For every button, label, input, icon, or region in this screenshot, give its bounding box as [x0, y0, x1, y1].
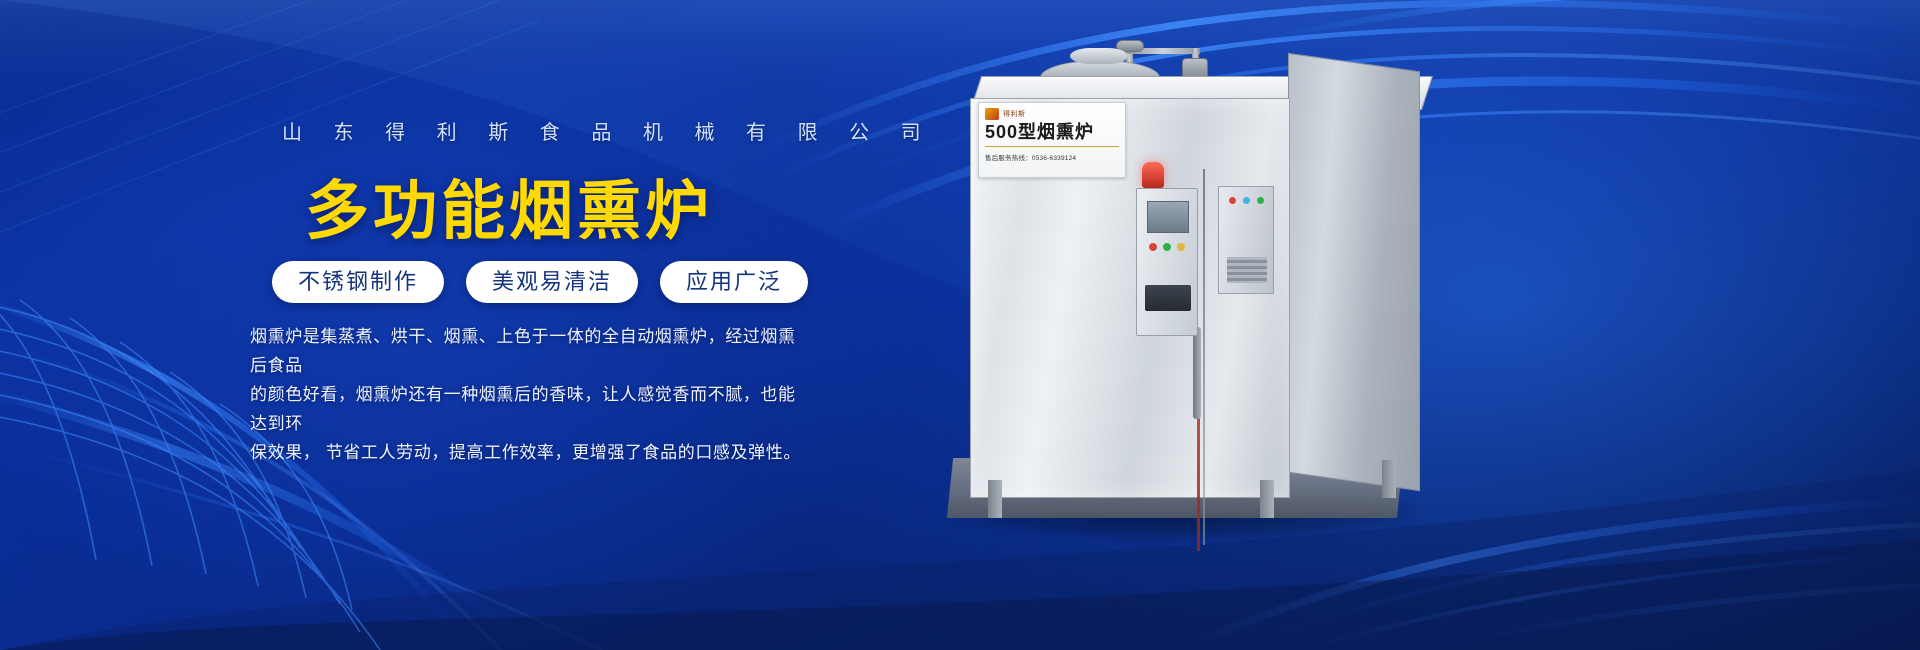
indicator-lamp-blue: [1243, 197, 1250, 204]
smokehouse-machine-image: 得利斯 500型烟熏炉 售后服务热线：0536-6339124: [930, 40, 1490, 560]
brand-logo: 得利斯: [985, 108, 1119, 120]
warning-beacon-light: [1142, 162, 1164, 188]
description-line: 烟熏炉是集蒸煮、烘干、烟熏、上色于一体的全自动烟熏炉，经过烟熏后食品: [250, 322, 812, 380]
feature-badge: 不锈钢制作: [272, 261, 444, 303]
machine-leg: [988, 480, 1002, 518]
machine-name-plate: 得利斯 500型烟熏炉 售后服务热线：0536-6339124: [978, 102, 1126, 178]
electrical-cabinet: [1218, 186, 1274, 294]
control-box: [1136, 188, 1198, 336]
machine-leg: [1260, 480, 1274, 518]
door-handle: [1193, 327, 1201, 419]
machine-leg: [1382, 460, 1396, 498]
brand-name: 得利斯: [1003, 109, 1026, 119]
description-line: 的颜色好看，烟熏炉还有一种烟熏后的香味，让人感觉香而不腻，也能达到环: [250, 380, 812, 438]
machine-model-label: 500型烟熏炉: [985, 123, 1119, 143]
machine-side-panel: [1288, 53, 1420, 492]
company-name: 山 东 得 利 斯 食 品 机 械 有 限 公 司: [282, 116, 934, 145]
service-hotline: 售后服务热线：0536-6339124: [985, 152, 1119, 162]
control-button-red: [1149, 243, 1157, 251]
indicator-lamp-green: [1257, 197, 1264, 204]
exhaust-cap: [1070, 48, 1128, 64]
divider: [985, 146, 1119, 147]
control-keypad: [1145, 285, 1191, 311]
feature-badge: 应用广泛: [660, 261, 808, 303]
control-button-yellow: [1177, 243, 1185, 251]
indicator-lamp-red: [1229, 197, 1236, 204]
banner-text-content: 山 东 得 利 斯 食 品 机 械 有 限 公 司 多功能烟熏炉 不锈钢制作 美…: [0, 0, 860, 650]
feature-badge-list: 不锈钢制作 美观易清洁 应用广泛: [272, 261, 808, 303]
product-description: 烟熏炉是集蒸煮、烘干、烟熏、上色于一体的全自动烟熏炉，经过烟熏后食品 的颜色好看…: [250, 322, 812, 467]
vent-grille: [1227, 257, 1267, 283]
door-seam: [1203, 169, 1205, 545]
logo-mark-icon: [985, 108, 999, 120]
page-title: 多功能烟熏炉: [305, 160, 713, 252]
promo-banner: 山 东 得 利 斯 食 品 机 械 有 限 公 司 多功能烟熏炉 不锈钢制作 美…: [0, 0, 1920, 650]
control-display: [1147, 201, 1189, 233]
feature-badge: 美观易清洁: [466, 261, 638, 303]
description-line: 保效果， 节省工人劳动，提高工作效率，更增强了食品的口感及弹性。: [250, 438, 812, 467]
control-button-green: [1163, 243, 1171, 251]
